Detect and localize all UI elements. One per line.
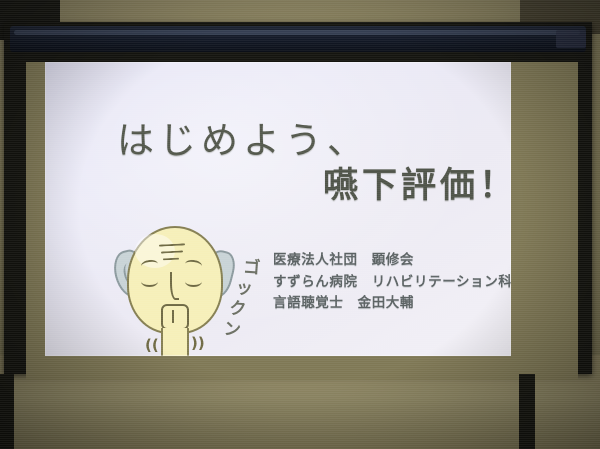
eye-left-closed	[141, 276, 158, 287]
elderly-man-illustration: (( ))	[113, 220, 263, 356]
neck-throat	[161, 328, 189, 356]
swallow-motion-right-icon: ))	[191, 334, 205, 352]
credit-line-presenter: 言語聴覚士 金田大輔	[273, 293, 511, 315]
nose	[170, 272, 179, 300]
projected-slide: はじめよう、 嚥下評価！ ゴ ッ ク ン 医療法人社団 顕修会 すずらん病院 リ…	[45, 62, 511, 356]
slide-credits: 医療法人社団 顕修会 すずらん病院 リハビリテーション科 言語聴覚士 金田大輔	[273, 250, 511, 315]
swallow-motion-left-icon: ((	[145, 336, 159, 354]
eye-right-closed	[185, 276, 202, 287]
roller-end-cap	[556, 30, 586, 48]
slide-title-line-2: 嚥下評価！	[323, 157, 511, 208]
credit-line-organization: 医療法人社団 顕修会	[273, 250, 511, 272]
credit-line-hospital-department: すずらん病院 リハビリテーション科	[273, 272, 511, 294]
mouth-open	[161, 304, 189, 330]
presentation-room-photo: はじめよう、 嚥下評価！ ゴ ッ ク ン 医療法人社団 顕修会 すずらん病院 リ…	[0, 0, 600, 449]
roller-highlight	[14, 30, 580, 35]
screen-stand-post-right	[519, 374, 535, 449]
screen-stand-post-left	[0, 374, 14, 449]
mouth-inner-line	[172, 310, 174, 323]
slide-title-line-1: はじめよう、	[117, 110, 369, 164]
